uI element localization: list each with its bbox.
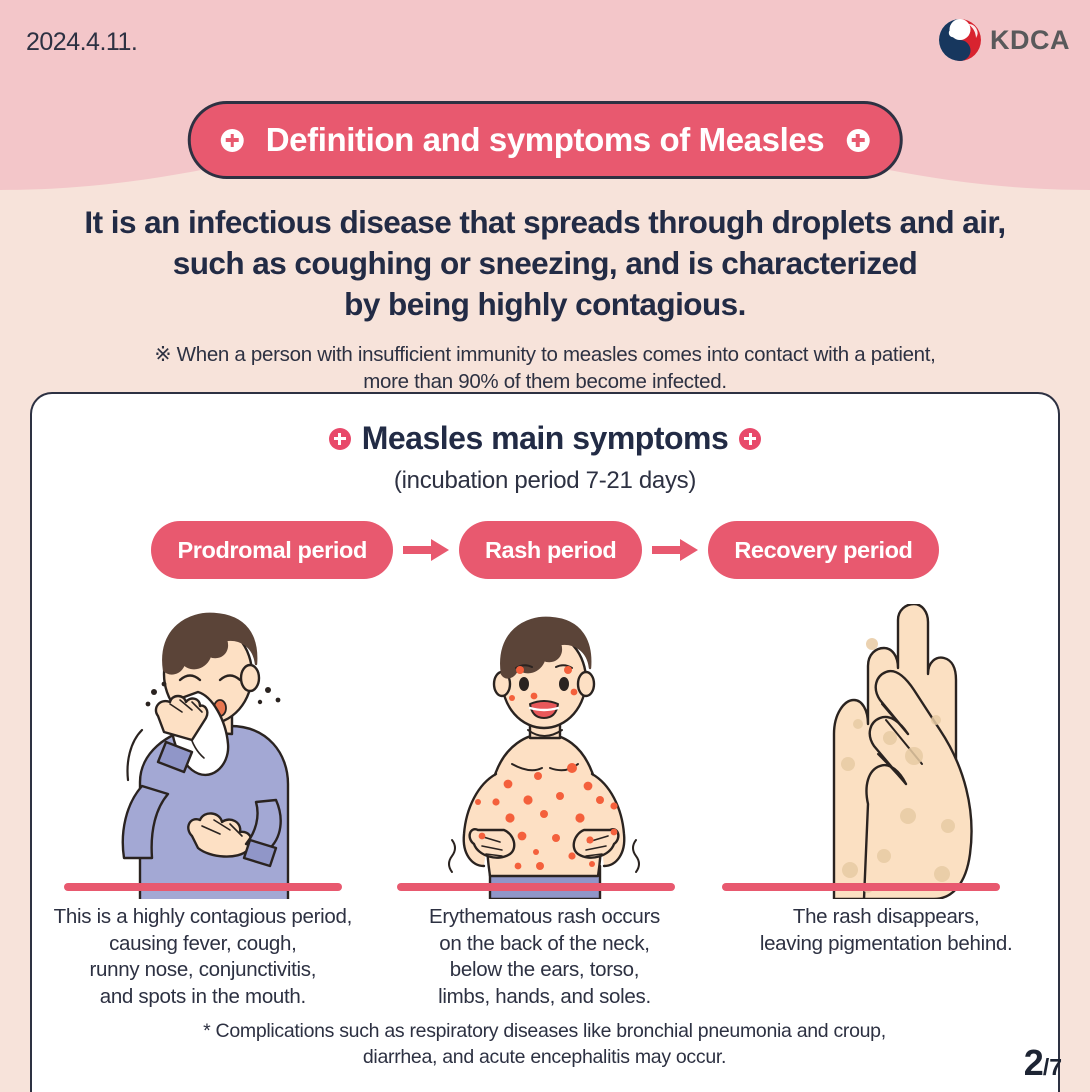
card-heading-text: Measles main symptoms	[362, 420, 729, 457]
caption-line: below the ears, torso,	[384, 957, 704, 984]
hands-with-pigmentation-illustration	[764, 604, 1009, 899]
symptom-card: Measles main symptoms (incubation period…	[30, 392, 1060, 1092]
person-coughing-into-tissue-illustration	[80, 604, 325, 899]
caption-line: limbs, hands, and soles.	[384, 984, 704, 1011]
footnote-line: * Complications such as respiratory dise…	[32, 1019, 1057, 1045]
underline-bar-prodromal	[64, 883, 342, 891]
kdca-taegeuk-logo-icon	[938, 18, 982, 62]
page-title-pill: Definition and symptoms of Measles	[188, 101, 903, 179]
plus-circle-icon-right	[846, 129, 869, 152]
footnote-line: diarrhea, and acute encephalitis may occ…	[32, 1045, 1057, 1071]
plus-circle-icon-left	[221, 129, 244, 152]
underline-bar-rash	[397, 883, 675, 891]
illustration-cell-rash	[394, 604, 694, 899]
kdca-logo-text: KDCA	[990, 25, 1070, 56]
stage-pill-rash[interactable]: Rash period	[459, 521, 642, 579]
caption-rash: Erythematous rash occurs on the back of …	[384, 904, 704, 1011]
person-with-rash-on-torso-illustration	[422, 604, 667, 899]
caption-line: causing fever, cough,	[43, 931, 363, 958]
stage-pill-recovery[interactable]: Recovery period	[708, 521, 938, 579]
page-total: /7	[1043, 1054, 1062, 1081]
lead-note-line: ※ When a person with insufficient immuni…	[0, 341, 1090, 368]
caption-prodromal: This is a highly contagious period, caus…	[43, 904, 363, 1011]
stage-row: Prodromal period Rash period Recovery pe…	[32, 521, 1058, 579]
card-footnote: * Complications such as respiratory dise…	[32, 1019, 1057, 1070]
lead-block: It is an infectious disease that spreads…	[0, 202, 1090, 395]
underline-bar-recovery	[722, 883, 1000, 891]
lead-headline: It is an infectious disease that spreads…	[0, 202, 1090, 325]
caption-line: on the back of the neck,	[384, 931, 704, 958]
lead-note: ※ When a person with insufficient immuni…	[0, 341, 1090, 396]
date-label: 2024.4.11.	[26, 28, 137, 57]
plus-circle-icon-right	[739, 428, 761, 450]
illustration-cell-prodromal	[53, 604, 353, 899]
page-title: Definition and symptoms of Measles	[266, 121, 825, 159]
caption-line: and spots in the mouth.	[43, 984, 363, 1011]
page-current: 2	[1024, 1042, 1043, 1084]
arrow-right-icon	[393, 535, 459, 565]
lead-note-line: more than 90% of them become infected.	[0, 368, 1090, 395]
lead-headline-line: by being highly contagious.	[24, 284, 1066, 325]
card-subheading: (incubation period 7-21 days)	[32, 467, 1058, 495]
caption-row: This is a highly contagious period, caus…	[32, 904, 1057, 1011]
caption-line: This is a highly contagious period,	[43, 904, 363, 931]
card-heading: Measles main symptoms	[32, 420, 1058, 457]
illustration-cell-recovery	[736, 604, 1036, 899]
caption-line: runny nose, conjunctivitis,	[43, 957, 363, 984]
lead-headline-line: It is an infectious disease that spreads…	[24, 202, 1066, 243]
caption-line: Erythematous rash occurs	[384, 904, 704, 931]
lead-headline-line: such as coughing or sneezing, and is cha…	[24, 243, 1066, 284]
caption-line: The rash disappears,	[726, 904, 1046, 931]
illustration-row	[32, 599, 1057, 899]
stage-pill-prodromal[interactable]: Prodromal period	[151, 521, 392, 579]
page-indicator: 2 /7	[1024, 1042, 1062, 1084]
caption-line: leaving pigmentation behind.	[726, 931, 1046, 958]
arrow-right-icon	[642, 535, 708, 565]
caption-recovery: The rash disappears, leaving pigmentatio…	[726, 904, 1046, 1011]
underline-bar-row	[32, 883, 1057, 893]
kdca-logo: KDCA	[938, 18, 1070, 62]
plus-circle-icon-left	[329, 428, 351, 450]
